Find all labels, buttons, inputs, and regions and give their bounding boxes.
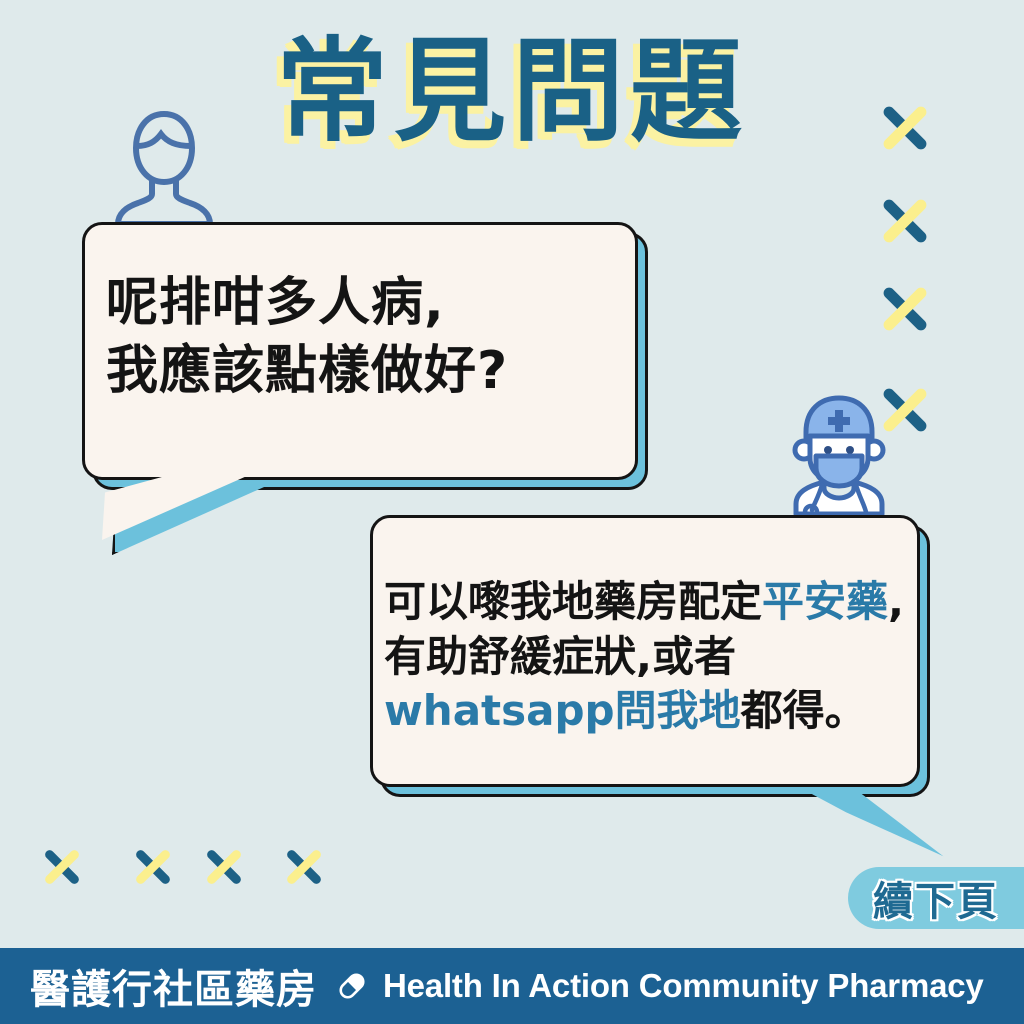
pharmacist-avatar [780,390,898,520]
x-mark-decoration [905,281,961,337]
pharmacist-avatar-icon [780,390,898,515]
x-mark-decoration [905,382,961,438]
answer-text-segment-1: 平安藥 [762,577,888,626]
x-mark-decoration [905,100,961,156]
patient-avatar-icon [108,108,220,226]
next-page-label: 續下頁 [873,869,999,927]
pill-capsule-icon [335,969,369,1003]
next-page-button[interactable]: 續下頁 [848,867,1024,929]
footer-brand-en: Health In Action Community Pharmacy [383,967,984,1005]
x-mark-decoration [153,845,197,889]
answer-bubble-text: 可以嚟我地藥房配定平安藥, 有助舒緩症狀,或者 whatsapp問我地都得。 [384,575,924,739]
x-mark-decoration [304,845,348,889]
footer-brand-zh: 醫護行社區藥房 [30,957,317,1015]
x-mark-decoration [224,845,268,889]
x-mark-decoration [62,845,106,889]
patient-avatar [108,108,220,231]
question-bubble-text: 呢排咁多人病, 我應該點樣做好? [106,270,626,405]
answer-text-segment-0: 可以嚟我地藥房配定 [384,577,762,626]
poster-canvas: 常見問題 呢排咁多人病, 我應該點樣做好? [0,0,1024,1024]
answer-text-segment-3: whatsapp問我地 [384,686,741,735]
page-title: 常見問題 [276,26,748,158]
footer-bar: 醫護行社區藥房 Health In Action Community Pharm… [0,948,1024,1024]
x-mark-decoration [905,193,961,249]
answer-text-segment-4: 都得。 [741,686,867,735]
